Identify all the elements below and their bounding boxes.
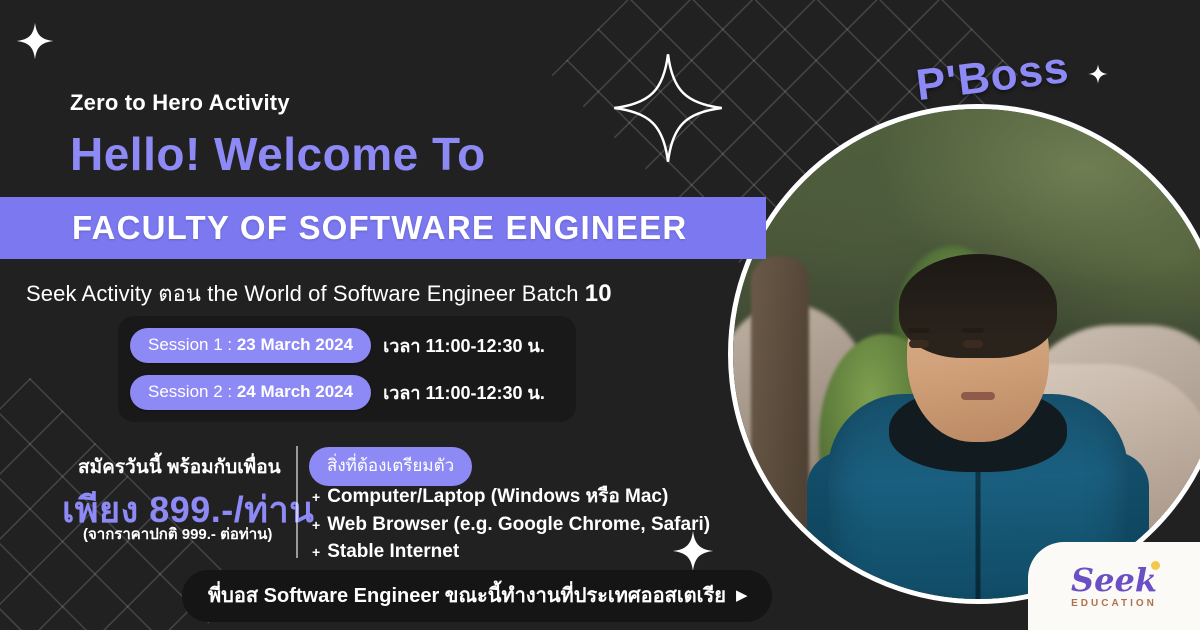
play-arrow-icon: ▶ — [736, 586, 748, 604]
footer-caption-text: พี่บอส Software Engineer ขณะนี้ทำงานที่ป… — [208, 579, 726, 611]
presenter-name-label: P'Boss — [914, 43, 1072, 111]
session-date: 24 March 2024 — [237, 382, 353, 401]
sparkle-star-outline-icon — [612, 52, 724, 164]
promo-banner: P'Boss Zero to Hero Activity Hello! Welc… — [0, 0, 1200, 630]
subtitle-prefix: Seek Activity ตอน the World of Software … — [26, 281, 585, 306]
photo-person-brow-right — [962, 328, 984, 333]
session-row: Session 2 : 24 March 2024 เวลา 11:00-12:… — [130, 375, 545, 410]
plus-bullet-icon: + — [312, 487, 320, 507]
photo-tree-trunk — [751, 256, 809, 586]
session-time: เวลา 11:00-12:30 น. — [383, 331, 545, 360]
requirements-list: + Computer/Laptop (Windows หรือ Mac) + W… — [312, 483, 710, 566]
photo-scene — [733, 109, 1200, 599]
list-item: + Stable Internet — [312, 538, 710, 566]
sparkle-star-icon — [16, 22, 54, 60]
session-time: เวลา 11:00-12:30 น. — [383, 378, 545, 407]
logo-subtitle: EDUCATION — [1071, 598, 1157, 609]
session-label: Session 2 : — [148, 382, 237, 401]
logo-wordmark-text: Seek — [1071, 561, 1157, 599]
kicker-text: Zero to Hero Activity — [70, 90, 290, 116]
price-heading: สมัครวันนี้ พร้อมกับเพื่อน — [78, 452, 281, 482]
session-date: 23 March 2024 — [237, 335, 353, 354]
plus-bullet-icon: + — [312, 542, 320, 562]
faculty-band-label: FACULTY OF SOFTWARE ENGINEER — [72, 209, 687, 247]
subtitle-line: Seek Activity ตอน the World of Software … — [26, 276, 612, 311]
photo-person-eye-left — [909, 340, 929, 348]
session-date-pill: Session 2 : 24 March 2024 — [130, 375, 371, 410]
list-item: + Web Browser (e.g. Google Chrome, Safar… — [312, 511, 710, 539]
requirement-text: Stable Internet — [327, 538, 459, 566]
requirement-text: Web Browser (e.g. Google Chrome, Safari) — [327, 511, 710, 539]
photo-person-brow-left — [908, 328, 930, 333]
logo-dot-icon — [1151, 561, 1160, 570]
logo-wordmark: Seek — [1071, 564, 1157, 596]
brand-logo: Seek EDUCATION — [1028, 542, 1200, 630]
session-row: Session 1 : 23 March 2024 เวลา 11:00-12:… — [130, 328, 545, 363]
requirements-pill: สิ่งที่ต้องเตรียมตัว — [309, 447, 472, 486]
requirement-text: Computer/Laptop (Windows หรือ Mac) — [327, 483, 668, 511]
session-panel: Session 1 : 23 March 2024 เวลา 11:00-12:… — [118, 316, 576, 422]
presenter-photo — [728, 104, 1200, 604]
price-original-note: (จากราคาปกติ 999.- ต่อท่าน) — [83, 522, 272, 546]
session-label: Session 1 : — [148, 335, 237, 354]
photo-person-mouth — [961, 392, 995, 400]
list-item: + Computer/Laptop (Windows หรือ Mac) — [312, 483, 710, 511]
footer-caption-pill: พี่บอส Software Engineer ขณะนี้ทำงานที่ป… — [182, 570, 772, 622]
session-date-pill: Session 1 : 23 March 2024 — [130, 328, 371, 363]
photo-person-eye-right — [963, 340, 983, 348]
page-title: Hello! Welcome To — [70, 127, 486, 181]
subtitle-batch-number: 10 — [585, 280, 612, 307]
vertical-divider — [296, 446, 298, 558]
sparkle-star-small-icon — [1088, 64, 1108, 84]
plus-bullet-icon: + — [312, 515, 320, 535]
